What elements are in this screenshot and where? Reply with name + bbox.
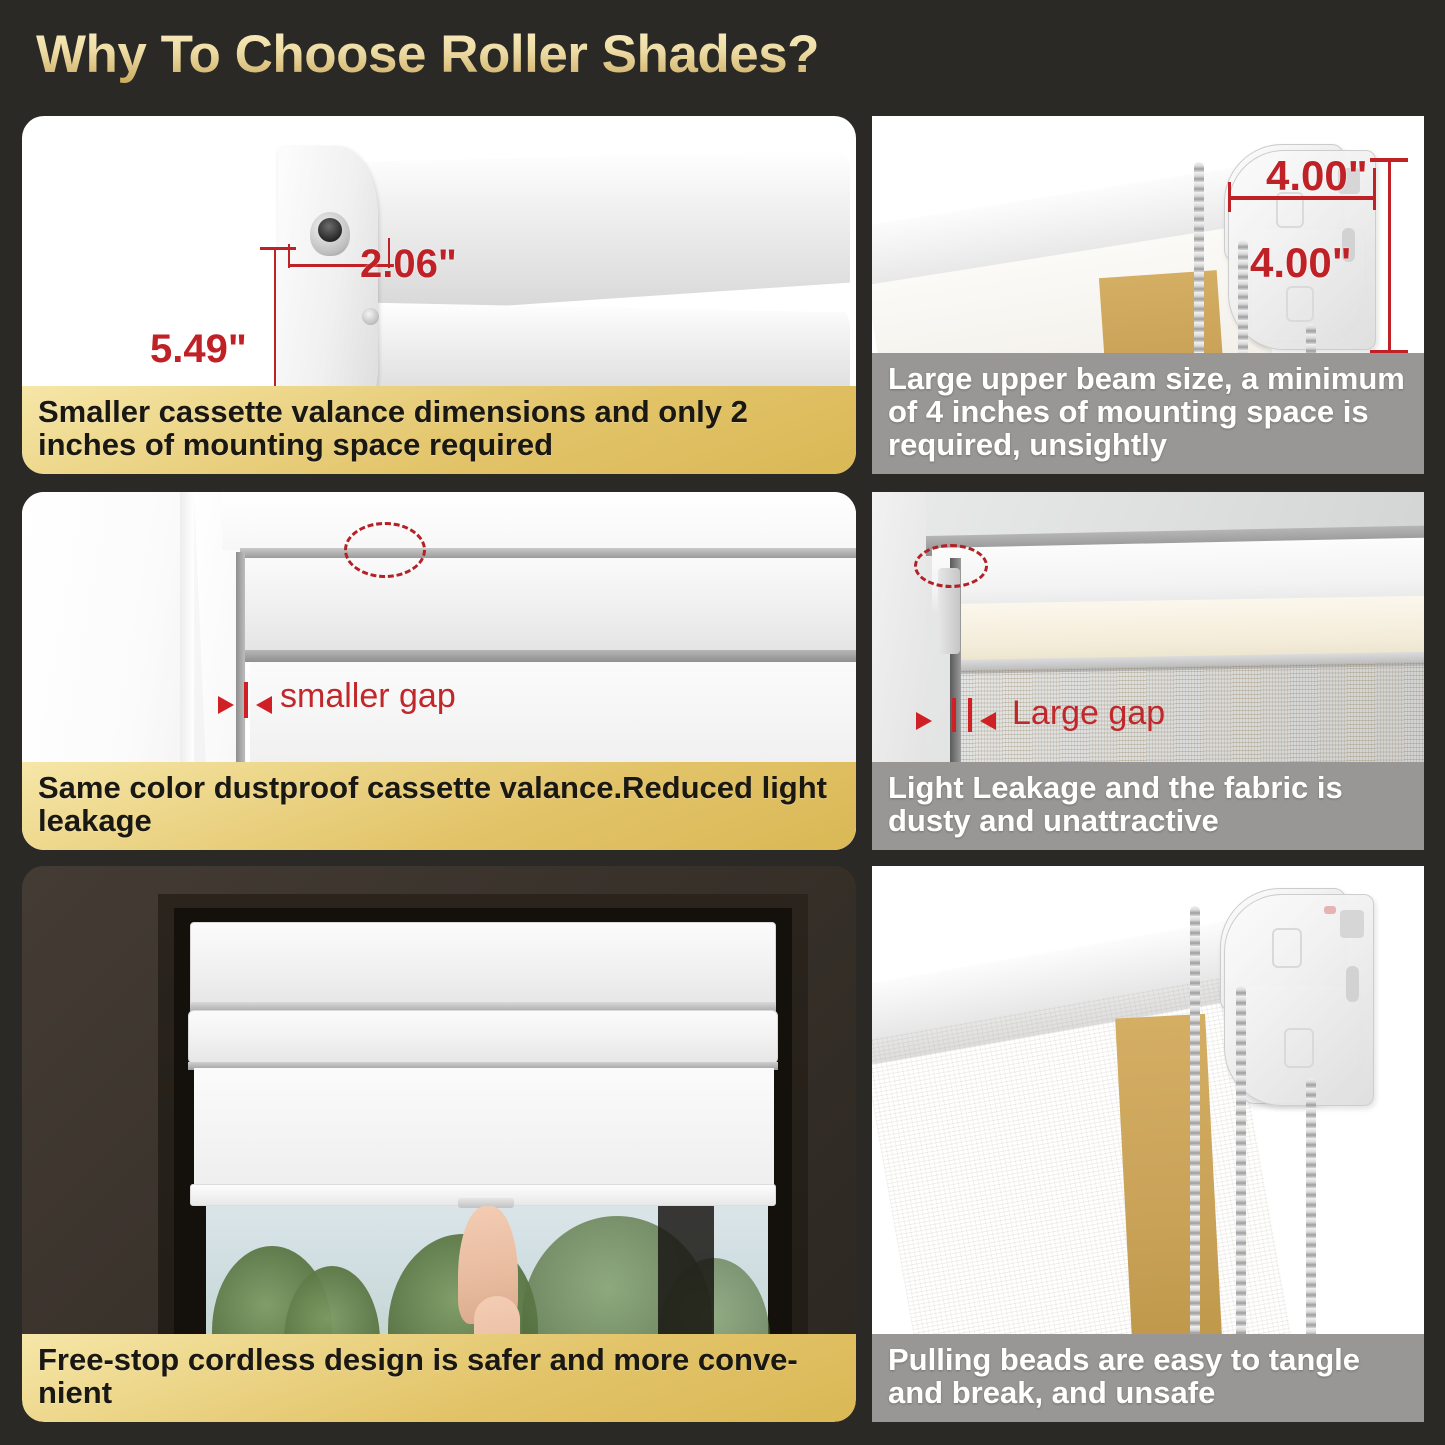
dimension-label-height: 5.49"	[150, 327, 247, 372]
panel-cassette-valance: 2.06" 5.49" Smaller cassette valance dim…	[22, 116, 856, 474]
dimension-label-width: 4.00"	[1266, 152, 1368, 200]
panel-caption: Light Leakage and the fabric is dusty an…	[872, 762, 1424, 850]
panel-light-leakage: Large gap Light Leakage and the fabric i…	[872, 492, 1424, 850]
panel-large-upper-beam: 4.00" 4.00" Large upper beam size, a min…	[872, 116, 1424, 474]
infographic-root: Why To Choose Roller Shades? 2.06"	[0, 0, 1445, 1445]
dimension-label-height: 4.00"	[1250, 239, 1352, 287]
dimension-label-width: 2.06"	[360, 242, 457, 287]
panel-caption: Free-stop cordless design is safer and m…	[22, 1334, 856, 1422]
panel-cordless-design: Free-stop cordless design is safer and m…	[22, 866, 856, 1422]
panel-caption: Large upper beam size, a minimum of 4 in…	[872, 353, 1424, 474]
title-bar: Why To Choose Roller Shades?	[0, 0, 1445, 108]
page-title: Why To Choose Roller Shades?	[0, 24, 819, 85]
gap-callout-label: Large gap	[1012, 694, 1165, 733]
gap-callout-label: smaller gap	[280, 677, 456, 716]
panel-caption: Same color dustproof cassette valance.Re…	[22, 762, 856, 850]
panel-pulling-beads: Pulling beads are easy to tangle and bre…	[872, 866, 1424, 1422]
panel-dustproof-valance: smaller gap Same color dustproof cassett…	[22, 492, 856, 850]
panel-caption: Smaller cassette valance dimensions and …	[22, 386, 856, 474]
panel-caption: Pulling beads are easy to tangle and bre…	[872, 1334, 1424, 1422]
